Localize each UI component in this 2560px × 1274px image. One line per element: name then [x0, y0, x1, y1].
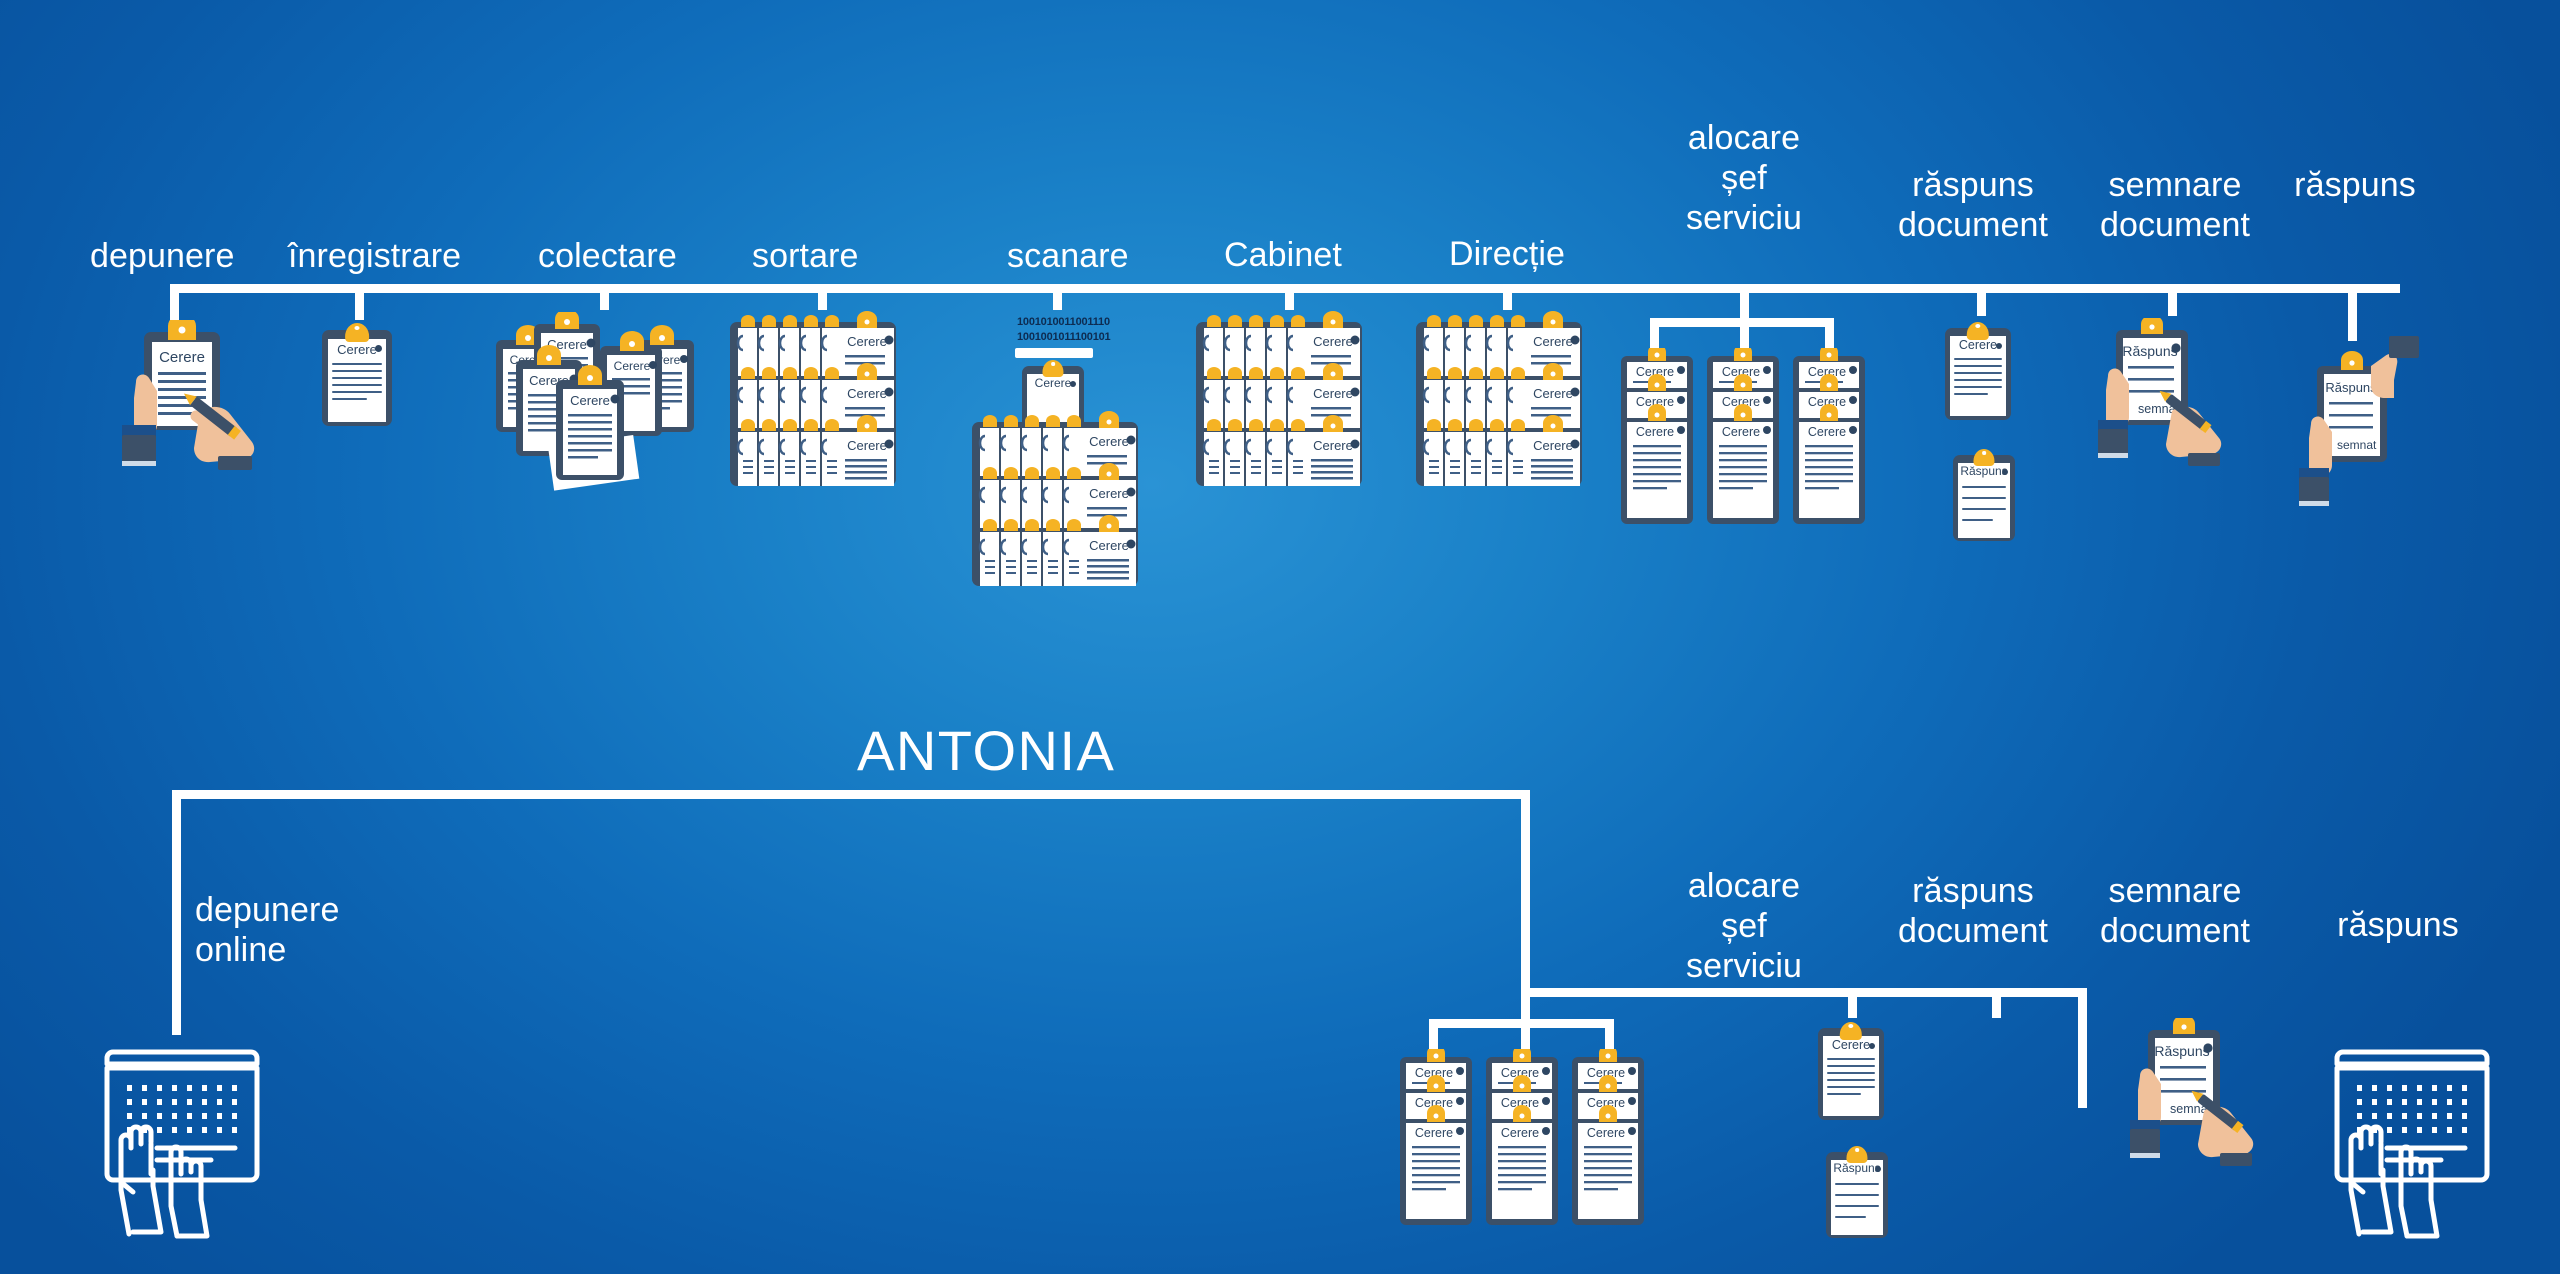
- scanner-binary-line-2: 1001001011100101: [1017, 331, 1110, 345]
- clipboard-icon-raspuns-bottom: Răspuns: [1826, 1152, 1888, 1238]
- svg-text:Cerere: Cerere: [614, 359, 651, 373]
- clipboard-dot: [2002, 469, 2008, 475]
- scanner-binary-line-1: 1001010011001110: [1017, 316, 1110, 330]
- bottom-step-label-semnare-document: semnare document: [2089, 871, 2261, 951]
- top-connector-directie: [1503, 284, 1512, 310]
- bottom-flow-spine: [172, 790, 1530, 799]
- folder-shelf-icon-scanare: Cerere Cerere Cerere: [968, 410, 1142, 590]
- hand-signing-clipboard-icon-bottom: Răspuns semnat: [2130, 1018, 2290, 1198]
- step-label-scanare: scanare: [1007, 236, 1129, 276]
- svg-text:Cerere: Cerere: [1089, 434, 1129, 449]
- step-label-semnare-document: semnare document: [2089, 165, 2261, 245]
- step-label-alocare: alocare șef serviciu: [1684, 118, 1804, 238]
- top-connector-sortare: [818, 284, 827, 310]
- bottom-connector-alocare: [1521, 790, 1530, 995]
- step-label-inregistrare: înregistrare: [288, 236, 461, 276]
- svg-text:Cerere: Cerere: [847, 334, 887, 349]
- clipboard-clip-icon: [345, 323, 369, 342]
- svg-text:Răspuns: Răspuns: [2122, 343, 2177, 359]
- clipboard-icon-raspuns-top: Răspuns: [1953, 455, 2015, 541]
- clipboard-stack-icon: Cerere Cerere Cerere Cerere: [490, 312, 700, 497]
- clipboard-icon-cerere-top: Cerere: [1945, 328, 2011, 420]
- folder-shelf-icon-directie: Cerere Cerere Cerere: [1412, 310, 1586, 490]
- svg-text:Cerere: Cerere: [847, 438, 887, 453]
- step-label-raspuns: răspuns: [2290, 165, 2420, 205]
- bottom-sub-spine: [1521, 988, 2087, 997]
- bottom-step-label-depunere-online: depunere online: [195, 890, 340, 970]
- svg-text:Cerere: Cerere: [159, 349, 205, 366]
- top-alocare-branch-right: [1825, 318, 1834, 348]
- svg-text:Cerere: Cerere: [1533, 334, 1573, 349]
- svg-text:Cerere: Cerere: [1313, 386, 1353, 401]
- svg-text:Cerere: Cerere: [570, 393, 610, 408]
- step-label-directie: Direcție: [1449, 234, 1565, 274]
- bottom-alocare-branch-right: [1605, 1019, 1614, 1049]
- svg-text:Răspuns: Răspuns: [2154, 1043, 2209, 1059]
- top-connector-depunere: [170, 284, 179, 320]
- top-connector-scanare: [1053, 284, 1062, 310]
- step-label-raspuns-document: răspuns document: [1887, 165, 2059, 245]
- clipboard-lines: [332, 363, 382, 400]
- bottom-connector-depunere-online: [172, 790, 181, 1035]
- clipboard-grid-icon-top: Cerere Cerere Cerere: [1619, 348, 1867, 526]
- svg-text:Răspuns: Răspuns: [2325, 380, 2377, 395]
- svg-text:Cerere: Cerere: [1533, 386, 1573, 401]
- step-label-colectare: colectare: [538, 236, 677, 276]
- clipboard-lines: [1835, 1183, 1880, 1218]
- svg-text:Cerere: Cerere: [1415, 1126, 1453, 1140]
- svg-text:Cerere: Cerere: [1313, 334, 1353, 349]
- clipboard-lines: [1962, 486, 2007, 521]
- bottom-connector-raspuns: [2078, 988, 2087, 1108]
- top-connector-raspuns-document: [1977, 284, 1986, 316]
- page-title: ANTONIA: [857, 718, 1115, 783]
- hand-holding-signed-clipboard-icon-top: Răspuns semnat: [2285, 332, 2435, 522]
- keyboard-hands-icon-raspuns: [2325, 1032, 2505, 1252]
- clipboard-icon-inregistrare: Cerere: [322, 330, 392, 426]
- top-alocare-branch-left: [1650, 318, 1659, 348]
- svg-text:Cerere: Cerere: [847, 386, 887, 401]
- clipboard-clip-icon: [1042, 360, 1063, 377]
- top-connector-colectare: [600, 284, 609, 310]
- top-connector-inregistrare: [355, 284, 364, 320]
- svg-text:Cerere: Cerere: [1313, 438, 1353, 453]
- keyboard-hands-icon-depunere-online: [95, 1032, 275, 1252]
- clipboard-icon-cerere-bottom: Cerere: [1818, 1028, 1884, 1120]
- bottom-connector-raspuns-document: [1848, 988, 1857, 1018]
- clipboard-lines: [1827, 1058, 1875, 1095]
- svg-text:semnat: semnat: [2337, 438, 2377, 452]
- clipboard-dot: [1070, 381, 1076, 387]
- clipboard-lines: [1954, 358, 2002, 395]
- bottom-alocare-branch-left: [1429, 1019, 1438, 1049]
- hand-holding-clipboard-pen-icon: Cerere: [100, 320, 280, 490]
- step-label-sortare: sortare: [752, 236, 859, 276]
- step-label-depunere: depunere: [90, 236, 235, 276]
- top-connector-semnare-document: [2168, 284, 2177, 316]
- svg-text:Cerere: Cerere: [1636, 425, 1674, 439]
- bottom-step-label-raspuns: răspuns: [2333, 905, 2463, 945]
- bottom-alocare-branch-mid: [1521, 988, 1530, 1049]
- svg-text:Cerere: Cerere: [1089, 486, 1129, 501]
- scanner-light-bar: [1015, 348, 1093, 358]
- step-label-cabinet: Cabinet: [1224, 235, 1342, 275]
- top-connector-cabinet: [1285, 284, 1294, 310]
- bottom-step-label-raspuns-document: răspuns document: [1887, 871, 2059, 951]
- bottom-connector-semnare-document: [1992, 988, 2001, 1018]
- svg-text:Cerere: Cerere: [1089, 538, 1129, 553]
- diagram-canvas: depunere înregistrare colectare sortare …: [0, 0, 2560, 1274]
- folder-shelf-icon-sortare: Cerere Cerere: [726, 310, 900, 490]
- top-alocare-branch-mid: [1740, 318, 1749, 348]
- clipboard-dot: [1875, 1166, 1881, 1172]
- hand-signing-clipboard-icon-top: Răspuns semnat: [2098, 318, 2258, 498]
- svg-text:Cerere: Cerere: [1533, 438, 1573, 453]
- clipboard-grid-icon-bottom: Cerere Cerere Cerere: [1398, 1049, 1646, 1227]
- folder-shelf-icon-cabinet: Cerere Cerere Cerere: [1192, 310, 1366, 490]
- bottom-step-label-alocare: alocare șef serviciu: [1684, 866, 1804, 986]
